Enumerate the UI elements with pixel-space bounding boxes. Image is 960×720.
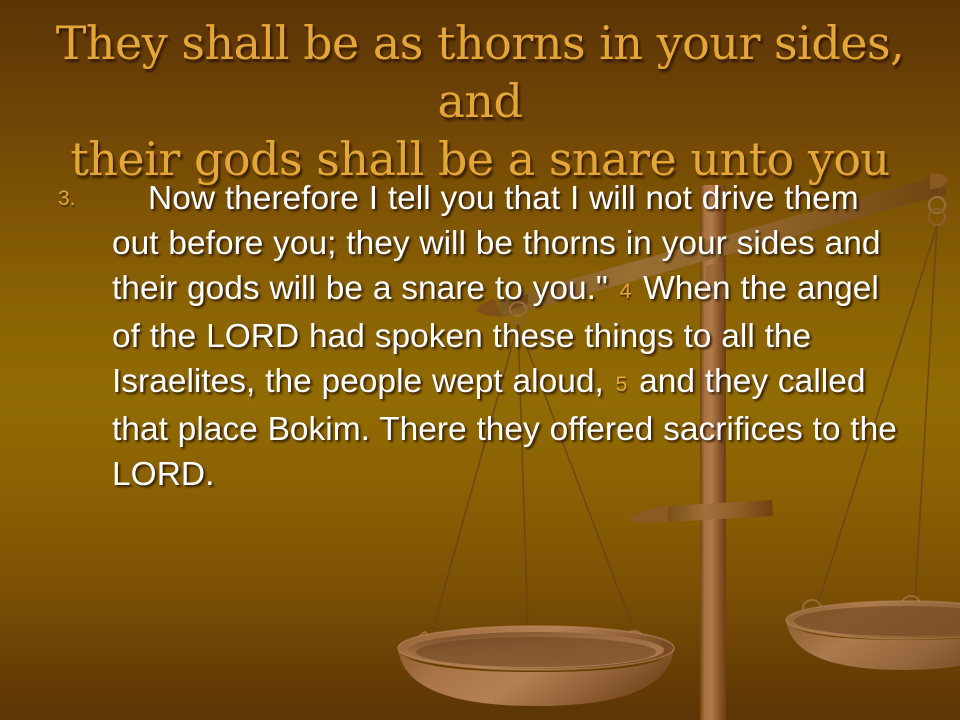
body-paragraph: Now therefore I tell you that I will not… xyxy=(112,176,906,497)
list-marker: 3. xyxy=(54,176,112,221)
verse-number-4: 4 xyxy=(618,280,634,303)
verse-number-5: 5 xyxy=(614,373,630,396)
body-list-item: 3. Now therefore I tell you that I will … xyxy=(54,176,906,497)
slide: They shall be as thorns in your sides, a… xyxy=(0,0,960,720)
slide-title: They shall be as thorns in your sides, a… xyxy=(8,14,952,188)
slide-body: 3. Now therefore I tell you that I will … xyxy=(54,176,906,497)
scale-right-pan xyxy=(786,596,960,670)
scale-left-pan xyxy=(398,626,674,706)
scale-crossbar xyxy=(628,500,773,523)
